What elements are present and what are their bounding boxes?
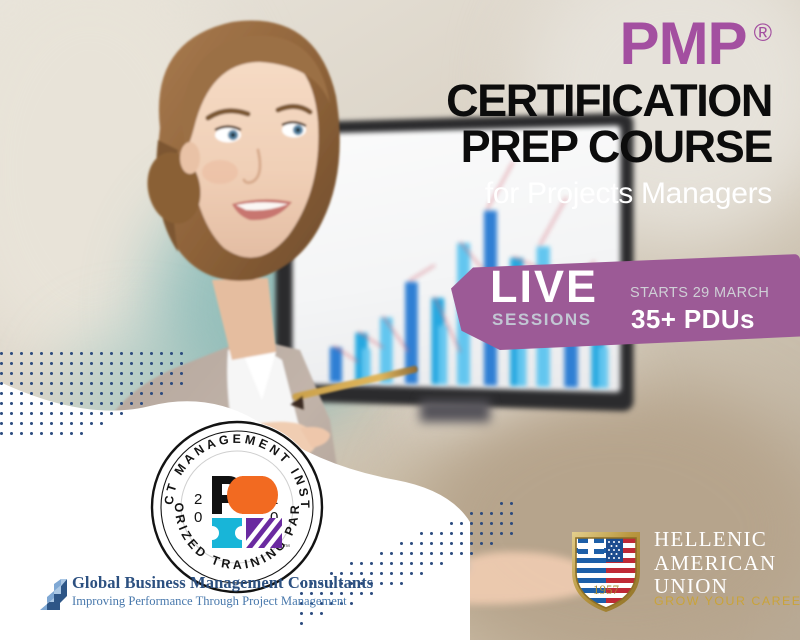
decorative-dot [130,382,133,385]
decorative-dot [410,552,413,555]
decorative-dot [110,352,113,355]
decorative-dot [60,412,63,415]
decorative-dot [20,382,23,385]
decorative-dot [430,542,433,545]
pmi-atp-seal: PROJECT MANAGEMENT INSTITUTE AUTHORIZED … [148,418,326,596]
decorative-dot [130,402,133,405]
live-label: LIVE [490,264,598,309]
decorative-dot [20,352,23,355]
decorative-dot [80,392,83,395]
decorative-dot [90,382,93,385]
decorative-dot [0,382,3,385]
decorative-dot [90,402,93,405]
decorative-dot [500,522,503,525]
decorative-dot [50,432,53,435]
decorative-dot [400,562,403,565]
decorative-dot [400,542,403,545]
decorative-dot [140,362,143,365]
decorative-dot [50,362,53,365]
decorative-dot [450,522,453,525]
decorative-dot [10,402,13,405]
gbmc-name: Global Business Management Consultants [72,573,373,593]
decorative-dot [380,562,383,565]
decorative-dot [30,432,33,435]
decorative-dot [470,552,473,555]
decorative-dot [100,362,103,365]
live-badge-content: LIVE SESSIONS STARTS 29 MARCH 35+ PDUs [451,254,800,350]
decorative-dot [40,422,43,425]
decorative-dot [130,352,133,355]
decorative-dot [460,552,463,555]
decorative-dot [10,432,13,435]
decorative-dot [100,422,103,425]
decorative-dot [150,352,153,355]
decorative-dot [440,532,443,535]
decorative-dot [30,362,33,365]
decorative-dot [390,572,393,575]
decorative-dot [80,412,83,415]
decorative-dot [40,412,43,415]
decorative-dot [90,352,93,355]
decorative-dot [90,392,93,395]
decorative-dot [450,552,453,555]
decorative-dot [450,532,453,535]
headline-subtitle: for Projects Managers [446,177,772,210]
decorative-dot [430,552,433,555]
stairs-arrow-icon [38,574,68,614]
pmp-brand: PMP [620,14,747,74]
decorative-dot [130,392,133,395]
hau-tagline: GROW YOUR CAREER [654,594,800,608]
decorative-dot [170,362,173,365]
decorative-dot [30,382,33,385]
decorative-dot [430,562,433,565]
decorative-dot [430,532,433,535]
headline-line-2: PREP COURSE [446,124,772,170]
decorative-dot [10,392,13,395]
decorative-dot [170,372,173,375]
decorative-dot [30,402,33,405]
decorative-dot [100,382,103,385]
decorative-dot [70,372,73,375]
decorative-dot [70,412,73,415]
decorative-dot [100,392,103,395]
decorative-dot [60,392,63,395]
decorative-dot [180,362,183,365]
decorative-dot [120,382,123,385]
decorative-dot [0,352,3,355]
decorative-dot [80,372,83,375]
decorative-dot [70,402,73,405]
decorative-dot [40,432,43,435]
decorative-dot [400,552,403,555]
decorative-dot [460,522,463,525]
decorative-dot [440,552,443,555]
decorative-dot [420,572,423,575]
decorative-dot [30,352,33,355]
hau-name: HELLENIC AMERICAN UNION [654,528,776,599]
decorative-dot [110,382,113,385]
decorative-dot [490,542,493,545]
decorative-dot [390,562,393,565]
decorative-dot [390,582,393,585]
decorative-dot [420,562,423,565]
decorative-dot [380,552,383,555]
decorative-dot [410,572,413,575]
decorative-dot [160,352,163,355]
decorative-dot [20,402,23,405]
decorative-dot [40,352,43,355]
decorative-dot [120,352,123,355]
decorative-dot [140,382,143,385]
decorative-dot [130,362,133,365]
decorative-dot [70,432,73,435]
decorative-dot [110,362,113,365]
decorative-dot [490,532,493,535]
decorative-dot [350,602,353,605]
gbmc-tagline: Improving Performance Through Project Ma… [72,594,347,609]
decorative-dot [50,412,53,415]
decorative-dot [40,392,43,395]
decorative-dot [0,392,3,395]
hellenic-american-union-logo: 1957 HELLENIC AMERICAN UNION GROW YOUR C… [568,526,794,618]
decorative-dot [50,422,53,425]
decorative-dot [170,382,173,385]
decorative-dot [50,352,53,355]
decorative-dot [380,572,383,575]
decorative-dot [20,372,23,375]
decorative-dot [0,362,3,365]
decorative-dot [20,432,23,435]
decorative-dot [180,382,183,385]
decorative-dot [120,412,123,415]
decorative-dot [80,422,83,425]
registered-mark-icon: ® [754,21,772,46]
decorative-dot [90,362,93,365]
poster-canvas: PROJECT MANAGEMENT INSTITUTE AUTHORIZED … [0,0,800,640]
decorative-dot [120,362,123,365]
decorative-dot [360,562,363,565]
decorative-dot [30,392,33,395]
decorative-dot [60,422,63,425]
decorative-dot [500,512,503,515]
decorative-dot [470,522,473,525]
decorative-dot [70,422,73,425]
decorative-dot [60,352,63,355]
decorative-dot [350,562,353,565]
decorative-dot [80,432,83,435]
decorative-dot [120,402,123,405]
decorative-dot [90,422,93,425]
decorative-dot [500,502,503,505]
decorative-dot [40,372,43,375]
decorative-dot [40,402,43,405]
hau-shield-year: 1957 [593,582,620,597]
decorative-dot [90,372,93,375]
seal-year-left-bottom: 0 [194,509,202,526]
decorative-dot [50,372,53,375]
decorative-dot [50,382,53,385]
decorative-dot [80,352,83,355]
decorative-dot [120,372,123,375]
decorative-dot [20,392,23,395]
decorative-dot [140,402,143,405]
decorative-dot [470,532,473,535]
decorative-dot [510,502,513,505]
decorative-dot [420,552,423,555]
decorative-dot [470,512,473,515]
decorative-dot [490,512,493,515]
decorative-dot [400,572,403,575]
decorative-dot [60,432,63,435]
decorative-dot [450,542,453,545]
decorative-dot [150,372,153,375]
decorative-dot [20,422,23,425]
decorative-dot [390,552,393,555]
decorative-dot [420,542,423,545]
dot-pattern-lower-center [300,492,520,640]
decorative-dot [160,392,163,395]
pdus-label: 35+ PDUs [631,306,755,332]
decorative-dot [180,372,183,375]
decorative-dot [380,582,383,585]
decorative-dot [140,352,143,355]
decorative-dot [410,542,413,545]
decorative-dot [510,532,513,535]
headline-line-1: CERTIFICATION [446,78,772,124]
decorative-dot [70,352,73,355]
seal-year-left-top: 2 [194,491,202,508]
decorative-dot [410,562,413,565]
pmp-row: PMP ® [446,14,772,74]
decorative-dot [160,362,163,365]
decorative-dot [110,392,113,395]
decorative-dot [100,412,103,415]
decorative-dot [140,392,143,395]
gbmc-logo: Global Business Management Consultants I… [38,572,328,616]
decorative-dot [60,382,63,385]
decorative-dot [170,352,173,355]
decorative-dot [10,372,13,375]
seal-trademark: ™ [283,544,290,551]
decorative-dot [150,362,153,365]
decorative-dot [110,372,113,375]
decorative-dot [60,362,63,365]
decorative-dot [10,352,13,355]
decorative-dot [500,532,503,535]
decorative-dot [150,392,153,395]
live-sessions-badge: LIVE SESSIONS STARTS 29 MARCH 35+ PDUs [451,254,800,350]
decorative-dot [10,382,13,385]
decorative-dot [80,382,83,385]
decorative-dot [110,402,113,405]
decorative-dot [60,402,63,405]
decorative-dot [480,532,483,535]
decorative-dot [100,372,103,375]
decorative-dot [490,522,493,525]
decorative-dot [30,372,33,375]
decorative-dot [90,412,93,415]
hau-shield-icon: 1957 [568,528,644,612]
decorative-dot [70,382,73,385]
decorative-dot [80,402,83,405]
decorative-dot [160,372,163,375]
decorative-dot [0,432,3,435]
decorative-dot [440,542,443,545]
decorative-dot [10,412,13,415]
sessions-label: SESSIONS [492,311,592,328]
decorative-dot [0,422,3,425]
decorative-dot [400,582,403,585]
decorative-dot [510,522,513,525]
decorative-dot [60,372,63,375]
decorative-dot [100,402,103,405]
decorative-dot [0,412,3,415]
hau-name-line2: AMERICAN [654,552,776,576]
decorative-dot [110,412,113,415]
start-date-label: STARTS 29 MARCH [630,286,769,301]
decorative-dot [480,542,483,545]
headline-block: PMP ® CERTIFICATION PREP COURSE for Proj… [446,14,772,210]
decorative-dot [140,372,143,375]
decorative-dot [10,422,13,425]
decorative-dot [510,512,513,515]
decorative-dot [70,392,73,395]
decorative-dot [120,392,123,395]
decorative-dot [150,382,153,385]
decorative-dot [130,372,133,375]
decorative-dot [480,512,483,515]
decorative-dot [470,542,473,545]
decorative-dot [480,522,483,525]
decorative-dot [370,562,373,565]
decorative-dot [460,532,463,535]
decorative-dot [0,402,3,405]
decorative-dot [20,362,23,365]
decorative-dot [20,412,23,415]
decorative-dot [50,392,53,395]
hau-name-line1: HELLENIC [654,528,776,552]
decorative-dot [100,352,103,355]
decorative-dot [300,622,303,625]
decorative-dot [30,422,33,425]
decorative-dot [0,372,3,375]
decorative-dot [420,532,423,535]
decorative-dot [30,412,33,415]
decorative-dot [180,352,183,355]
decorative-dot [40,382,43,385]
decorative-dot [460,542,463,545]
decorative-dot [70,362,73,365]
decorative-dot [440,562,443,565]
decorative-dot [160,382,163,385]
decorative-dot [40,362,43,365]
decorative-dot [50,402,53,405]
decorative-dot [10,362,13,365]
decorative-dot [80,362,83,365]
